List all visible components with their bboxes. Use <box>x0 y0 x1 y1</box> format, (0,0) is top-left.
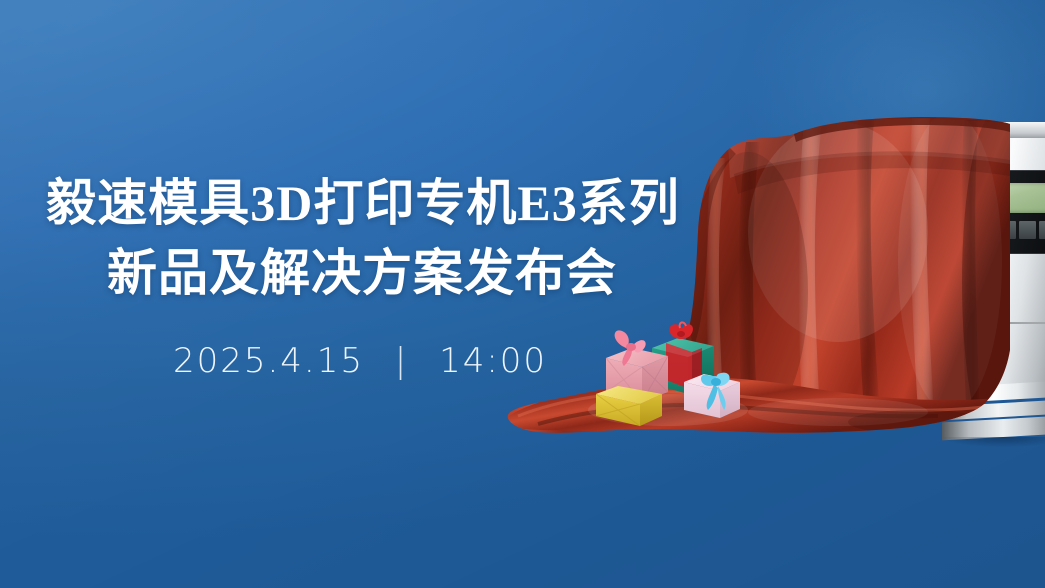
datetime-separator: | <box>395 341 408 381</box>
event-date: 2025.4.15 <box>173 341 364 381</box>
poster-title: 毅速模具3D打印专机E3系列 新品及解决方案发布会 <box>0 168 720 308</box>
title-line-1: 毅速模具3D打印专机E3系列 <box>0 168 720 238</box>
title-line-2: 新品及解决方案发布会 <box>0 238 720 308</box>
event-poster: 毅速模具3D打印专机E3系列 新品及解决方案发布会 2025.4.15 | 14… <box>0 0 1045 588</box>
event-time: 14:00 <box>439 341 547 381</box>
event-datetime: 2025.4.15 | 14:00 <box>0 341 720 381</box>
machine-key <box>1019 221 1036 239</box>
machine-key <box>1039 221 1045 239</box>
